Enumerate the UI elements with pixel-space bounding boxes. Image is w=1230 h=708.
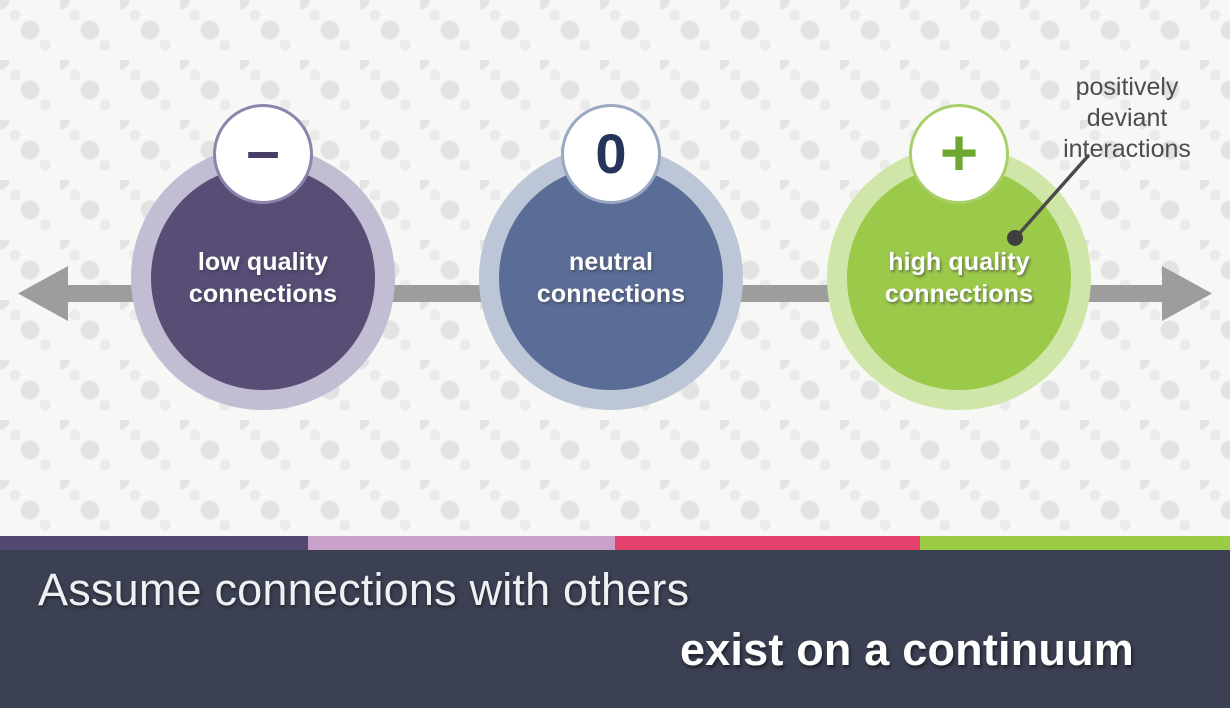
slide-canvas: low quality connections – neutral connec…: [0, 0, 1230, 708]
arrow-head-right: [1162, 266, 1212, 321]
stripe-segment-green: [920, 536, 1230, 550]
zero-badge-symbol: 0: [595, 126, 626, 182]
node-label: neutral connections: [537, 246, 685, 310]
plus-badge-symbol: +: [940, 119, 979, 185]
stripe-segment-pink: [615, 536, 920, 550]
caption-line-1: Assume connections with others: [38, 564, 689, 616]
minus-badge-symbol: –: [246, 121, 279, 181]
stripe-segment-lilac: [308, 536, 616, 550]
zero-badge[interactable]: 0: [561, 104, 661, 204]
stripe-segment-purple: [0, 536, 308, 550]
node-low-quality[interactable]: low quality connections –: [131, 146, 395, 410]
color-stripe: [0, 536, 1230, 550]
node-label: low quality connections: [189, 246, 337, 310]
leader-dot: [1007, 230, 1023, 246]
caption-line-2: exist on a continuum: [680, 624, 1134, 676]
arrow-head-left: [18, 266, 68, 321]
callout-text: positively deviant interactions: [1028, 72, 1226, 165]
minus-badge[interactable]: –: [213, 104, 313, 204]
caption-band: Assume connections with others exist on …: [0, 536, 1230, 708]
leader-line: [1018, 156, 1088, 235]
node-neutral[interactable]: neutral connections 0: [479, 146, 743, 410]
callout-leader-line: [990, 150, 1100, 260]
